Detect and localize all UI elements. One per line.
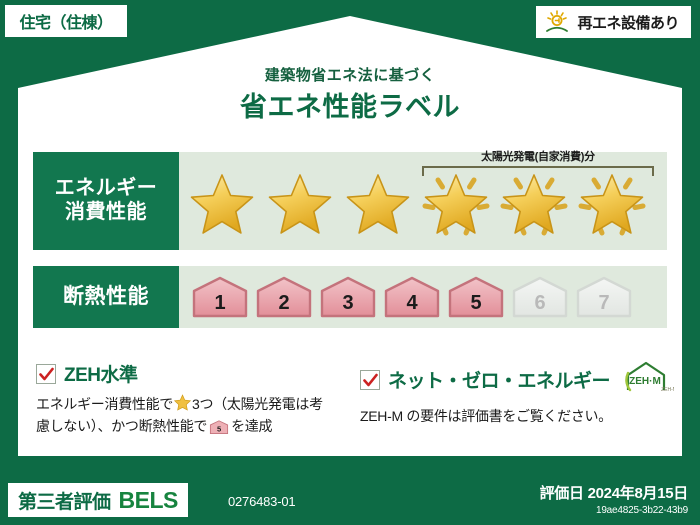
evaluation-date-value: 2024年8月15日 — [588, 485, 688, 502]
net-zero-energy-title: ネット・ゼロ・エネルギー — [388, 366, 610, 393]
zeh-standard-block: ZEH水準 エネルギー消費性能で3つ（太陽光発電は考慮しない）、かつ断熱性能で5… — [36, 360, 336, 441]
zeh-standard-checkbox — [36, 364, 56, 384]
net-zero-energy-description: ZEH-M の要件は評価書をご覧ください。 — [360, 406, 670, 426]
solar-sun-icon — [544, 10, 570, 34]
insulation-chip-5: 5 — [447, 275, 505, 319]
page-title: 省エネ性能ラベル — [0, 85, 700, 124]
energy-star-1 — [183, 161, 261, 241]
bels-certification-badge: 第三者評価 BELS — [8, 483, 188, 517]
solar-annotation-bracket — [422, 166, 654, 176]
energy-performance-label: 住宅（住棟） 再エネ設備あり 建築物省エネ法に基づく 省エネ性能ラベル — [0, 0, 700, 525]
insulation-performance-label: 断熱性能 — [33, 266, 179, 328]
insulation-chip-1: 1 — [191, 275, 249, 319]
svg-text:ZEH·M: ZEH·M — [629, 376, 661, 387]
evaluation-date-label: 評価日 — [540, 485, 584, 502]
net-zero-energy-block: ネット・ゼロ・エネルギー ZEH·M ZEH-M ZEH-M の要件は評価書をご… — [360, 360, 670, 426]
zeh-desc-part1: エネルギー消費性能で — [36, 396, 173, 412]
net-zero-energy-checkbox — [360, 370, 380, 390]
insulation-level-scale: 1234567 — [179, 266, 667, 328]
building-type-tag-label: 住宅（住棟） — [19, 9, 112, 33]
building-type-tag: 住宅（住棟） — [4, 4, 128, 38]
renewable-equipment-badge: 再エネ設備あり — [535, 5, 692, 39]
third-party-evaluation-label: 第三者評価 — [18, 487, 111, 514]
net-zero-energy-heading: ネット・ゼロ・エネルギー ZEH·M ZEH-M — [360, 360, 670, 399]
renewable-badge-label: 再エネ設備あり — [577, 12, 679, 33]
evaluation-meta: 評価日 2024年8月15日 19ae4825-3b22-43b9 — [540, 482, 688, 516]
mini-insulation-chip: 5 — [209, 419, 229, 440]
evaluation-date: 評価日 2024年8月15日 — [540, 482, 688, 503]
energy-performance-label: エネルギー 消費性能 — [33, 152, 179, 250]
insulation-label-text: 断熱性能 — [63, 285, 149, 310]
energy-star-3 — [339, 161, 417, 241]
insulation-chip-4: 4 — [383, 275, 441, 319]
document-uid: 19ae4825-3b22-43b9 — [540, 505, 688, 516]
svg-text:ZEH-M: ZEH-M — [661, 387, 674, 393]
label-subtitle: 建築物省エネ法に基づく — [0, 64, 700, 85]
zeh-desc-part3: を達成 — [231, 418, 272, 434]
svg-text:5: 5 — [217, 425, 221, 434]
solar-annotation-label: 太陽光発電(自家消費)分 — [418, 148, 658, 164]
zeh-standard-title: ZEH水準 — [64, 360, 138, 387]
bels-logo-label: BELS — [119, 487, 178, 514]
energy-label-line1: エネルギー — [55, 177, 158, 201]
energy-label-line2: 消費性能 — [65, 201, 147, 225]
insulation-chip-2: 2 — [255, 275, 313, 319]
insulation-chip-7: 7 — [575, 275, 633, 319]
zeh-standard-description: エネルギー消費性能で3つ（太陽光発電は考慮しない）、かつ断熱性能で5を達成 — [36, 394, 336, 441]
insulation-performance-row: 断熱性能 1234567 — [33, 266, 667, 328]
mini-star-icon — [174, 394, 191, 416]
certificate-number: 0276483-01 — [228, 494, 295, 509]
zeh-standard-heading: ZEH水準 — [36, 360, 336, 387]
insulation-chip-3: 3 — [319, 275, 377, 319]
insulation-chip-6: 6 — [511, 275, 569, 319]
energy-star-2 — [261, 161, 339, 241]
zeh-m-logo-icon: ZEH·M ZEH-M — [622, 360, 674, 399]
